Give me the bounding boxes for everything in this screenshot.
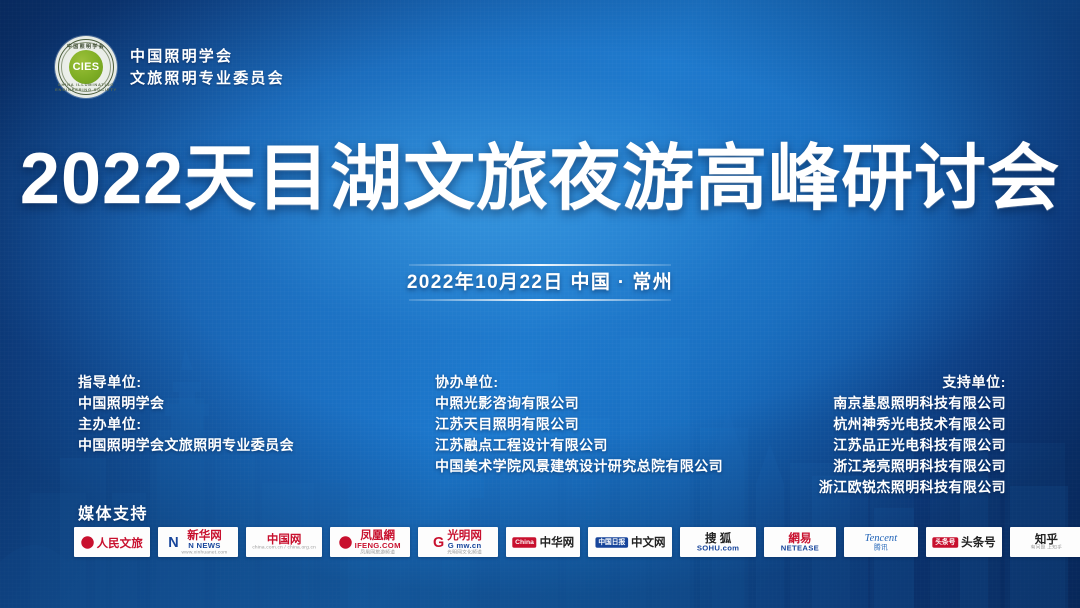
logo-cn-text: 新华网 (187, 529, 222, 541)
logo-latin-text: NETEASE (781, 544, 819, 552)
credits-column-left: 指导单位:中国照明学会主办单位:中国照明学会文旅照明专业委员会 (78, 372, 294, 456)
date-rule-bottom (409, 299, 671, 301)
credits-heading: 主办单位: (78, 414, 294, 435)
date-rule-top (409, 264, 671, 266)
badge-arc-top-text: 中国照明学会 (55, 43, 117, 50)
logo-cn-text: 中国网 (267, 533, 302, 545)
logo-text-stack: 人民文旅 (97, 536, 143, 548)
logo-cn-text: 人民文旅 (97, 536, 143, 548)
media-logo-sohu[interactable]: 搜 狐SOHU.com (680, 527, 756, 557)
media-logo-toutiao[interactable]: 头条号头条号 (926, 527, 1002, 557)
media-logo-tencent[interactable]: Tencent腾讯 (844, 527, 918, 557)
logo-text-stack: 網易NETEASE (781, 532, 819, 552)
credits-section: 指导单位:中国照明学会主办单位:中国照明学会文旅照明专业委员会 协办单位:中照光… (0, 372, 1080, 492)
media-logo-chinadaily-cn[interactable]: 中国日报中文网 (588, 527, 672, 557)
logo-mark-icon: China (512, 537, 536, 548)
logo-sub-text: china.com.cn / china.org.cn (252, 546, 316, 551)
brand-line-1: 中国照明学会 (130, 49, 285, 64)
media-logo-inner: G光明网G mw.cn光明网文化频道 (433, 529, 482, 555)
credits-item: 江苏品正光电科技有限公司 (819, 435, 1006, 456)
media-logo-inner: 網易NETEASE (781, 532, 819, 552)
logo-mark-icon: G (433, 535, 444, 549)
media-logo-ifeng[interactable]: 凤凰網IFENG.COM凤凰网旅游频道 (330, 527, 410, 557)
media-logo-inner: Tencent腾讯 (865, 533, 897, 551)
logo-latin-text: SOHU.com (697, 544, 739, 552)
media-logo-netease[interactable]: 網易NETEASE (764, 527, 836, 557)
media-logo-inner: 搜 狐SOHU.com (697, 532, 739, 552)
event-poster: 中国照明学会 CIES CHINA ILLUMINATING ENGINEERI… (0, 0, 1080, 608)
media-logo-inner: 头条号头条号 (932, 536, 995, 548)
logo-text-stack: 光明网G mw.cn光明网文化频道 (448, 529, 483, 555)
badge-arc-bottom-text: CHINA ILLUMINATING ENGINEERING SOCIETY (55, 82, 117, 92)
media-logo-inner: 知乎有问题 上知乎 (1030, 533, 1061, 550)
logo-cn-text: 知乎 (1034, 533, 1057, 545)
media-logo-inner: 中国日报中文网 (595, 536, 665, 548)
logo-sub-text: 光明网文化频道 (448, 550, 483, 555)
media-logo-renmin-wenlv[interactable]: 人民文旅 (74, 527, 150, 557)
credits-column-middle: 协办单位:中照光影咨询有限公司江苏天目照明有限公司江苏融点工程设计有限公司中国美… (435, 372, 723, 477)
credits-heading: 协办单位: (435, 372, 723, 393)
media-logo-china-com-cn[interactable]: 中国网china.com.cn / china.org.cn (246, 527, 322, 557)
credits-column-right: 支持单位:南京基恩照明科技有限公司杭州神秀光电技术有限公司江苏品正光电科技有限公… (819, 372, 1006, 498)
logo-text-stack: 搜 狐SOHU.com (697, 532, 739, 552)
logo-sub-text: www.xinhuanet.com (182, 550, 228, 555)
media-logo-inner: China中华网 (512, 536, 574, 548)
logo-text-stack: 新华网N NEWSwww.xinhuanet.com (182, 529, 228, 555)
logo-text-stack: 中国网china.com.cn / china.org.cn (252, 533, 316, 550)
badge-abbr-text: CIES (73, 62, 100, 73)
credits-item: 杭州神秀光电技术有限公司 (819, 414, 1006, 435)
logo-latin-text: N NEWS (188, 542, 220, 550)
badge-core: CIES (69, 50, 103, 84)
logo-cn-text: 光明网 (448, 529, 483, 541)
credits-item: 中国美术学院风景建筑设计研究总院有限公司 (435, 456, 723, 477)
media-logo-china-chip[interactable]: China中华网 (506, 527, 580, 557)
credits-heading: 支持单位: (819, 372, 1006, 393)
credits-item: 浙江欧锐杰照明科技有限公司 (819, 477, 1006, 498)
logo-cn-text: 凤凰網 (360, 529, 395, 541)
media-logo-inner: N新华网N NEWSwww.xinhuanet.com (168, 529, 227, 555)
logo-text-stack: 中文网 (630, 536, 665, 548)
logo-latin-text: G mw.cn (448, 542, 482, 550)
credits-item: 江苏融点工程设计有限公司 (435, 435, 723, 456)
media-logo-gmw-cn[interactable]: G光明网G mw.cn光明网文化频道 (418, 527, 498, 557)
logo-cn-text: 中华网 (539, 536, 574, 548)
logo-mark-icon: N (168, 535, 178, 549)
logo-cn-text: 头条号 (961, 536, 996, 548)
logo-latin-text: IFENG.COM (355, 542, 401, 550)
media-logo-inner: 人民文旅 (81, 536, 142, 548)
credits-item: 浙江尧亮照明科技有限公司 (819, 456, 1006, 477)
logo-mark-icon: 中国日报 (595, 537, 628, 548)
logo-cn-text: 中文网 (630, 536, 665, 548)
logo-text-stack: 知乎有问题 上知乎 (1030, 533, 1061, 550)
logo-text-stack: 中华网 (539, 536, 574, 548)
media-logo-zhihu[interactable]: 知乎有问题 上知乎 (1010, 527, 1080, 557)
event-date-block: 2022年10月22日 中国 · 常州 (0, 264, 1080, 301)
media-logo-xinhuanet[interactable]: N新华网N NEWSwww.xinhuanet.com (158, 527, 238, 557)
logo-text-stack: 头条号 (961, 536, 996, 548)
logo-latin-text: Tencent (865, 533, 897, 544)
media-logo-inner: 中国网china.com.cn / china.org.cn (252, 533, 316, 550)
brand-text-block: 中国照明学会 文旅照明专业委员会 (130, 49, 285, 86)
brand-line-2: 文旅照明专业委员会 (130, 71, 285, 86)
media-logo-inner: 凤凰網IFENG.COM凤凰网旅游频道 (339, 529, 400, 555)
logo-text-stack: Tencent腾讯 (865, 533, 897, 551)
credits-item: 中照光影咨询有限公司 (435, 393, 723, 414)
media-logo-row: 人民文旅N新华网N NEWSwww.xinhuanet.com中国网china.… (74, 527, 1044, 557)
media-support-label: 媒体支持 (78, 500, 148, 524)
event-title: 2022天目湖文旅夜游高峰研讨会 (0, 143, 1080, 215)
credits-item: 南京基恩照明科技有限公司 (819, 393, 1006, 414)
logo-cn-text: 網易 (788, 532, 811, 544)
logo-sub-text: 凤凰网旅游频道 (360, 550, 395, 555)
logo-mark-icon (339, 536, 351, 548)
logo-mark-icon (81, 536, 93, 548)
credits-item: 中国照明学会文旅照明专业委员会 (78, 435, 294, 456)
organization-brand: 中国照明学会 CIES CHINA ILLUMINATING ENGINEERI… (55, 36, 285, 98)
credits-heading: 指导单位: (78, 372, 294, 393)
credits-item: 中国照明学会 (78, 393, 294, 414)
cies-logo-icon: 中国照明学会 CIES CHINA ILLUMINATING ENGINEERI… (55, 36, 117, 98)
logo-cn-text: 腾讯 (874, 544, 888, 551)
logo-text-stack: 凤凰網IFENG.COM凤凰网旅游频道 (355, 529, 401, 555)
credits-item: 江苏天目照明有限公司 (435, 414, 723, 435)
logo-cn-text: 搜 狐 (705, 532, 731, 544)
logo-sub-text: 有问题 上知乎 (1030, 546, 1061, 551)
logo-mark-icon: 头条号 (932, 537, 958, 548)
event-date-text: 2022年10月22日 中国 · 常州 (407, 273, 673, 292)
